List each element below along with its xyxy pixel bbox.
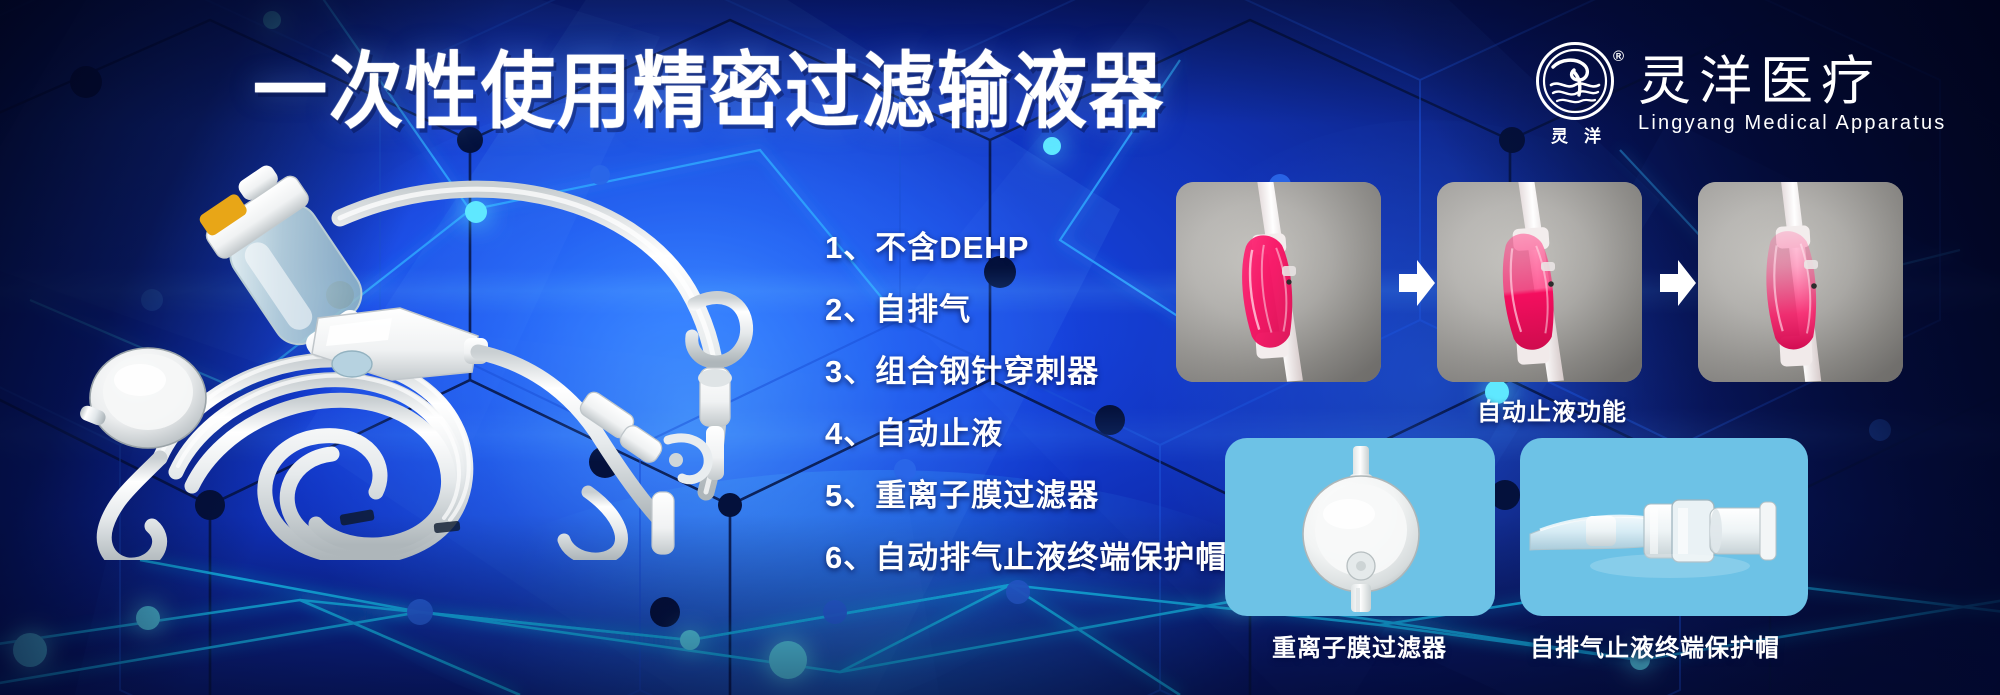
product-photo-infusion-set (40, 140, 780, 560)
wave-emblem-icon (1536, 42, 1614, 120)
brand-name-cn: 灵洋医疗 (1638, 54, 1946, 110)
product-banner: 一次性使用精密过滤输液器 ® 灵洋 灵洋医疗 Lingyang Medical … (0, 0, 2000, 695)
registered-trademark-icon: ® (1613, 48, 1624, 65)
page-title: 一次性使用精密过滤输液器 (253, 47, 1165, 137)
photo-heavy-ion-membrane-filter (1225, 438, 1495, 616)
wave-figure-icon (1541, 47, 1609, 115)
feature-list: 1、不含DEHP 2、自排气 3、组合钢针穿刺器 4、自动止液 5、重离子膜过滤… (825, 232, 1227, 574)
brand-name-en: Lingyang Medical Apparatus (1638, 112, 1946, 134)
air-vent-filter-part (78, 348, 206, 448)
feature-item-2: 2、自排气 (825, 294, 1227, 326)
sequence-caption: 自动止液功能 (1477, 392, 1627, 427)
brand-name-block: 灵洋医疗 Lingyang Medical Apparatus (1638, 54, 1946, 134)
caption-venting-cap: 自排气止液终端保护帽 (1530, 628, 1780, 663)
auto-stop-frame-1 (1176, 182, 1381, 382)
sequence-arrow-2 (1658, 256, 1698, 310)
auto-stop-frame-2 (1437, 182, 1642, 382)
feature-item-6: 6、自动排气止液终端保护帽 (825, 542, 1227, 574)
feature-item-5: 5、重离子膜过滤器 (825, 480, 1227, 512)
infusion-set-illustration (40, 140, 780, 560)
logo-mark-subtext: 灵洋 (1528, 122, 1624, 147)
caption-heavy-ion-filter: 重离子膜过滤器 (1272, 628, 1447, 663)
hook-clamp-part (668, 438, 708, 480)
feature-item-4: 4、自动止液 (825, 418, 1227, 450)
auto-stop-frame-3 (1698, 182, 1903, 382)
photo-self-venting-stop-cap (1520, 438, 1808, 616)
feature-item-3: 3、组合钢针穿刺器 (825, 356, 1227, 388)
sequence-arrow-1 (1397, 256, 1437, 310)
brand-logo: ® 灵洋 灵洋医疗 Lingyang Medical Apparatus (1528, 42, 1946, 146)
feature-item-1: 1、不含DEHP (825, 232, 1227, 264)
logo-emblem: ® 灵洋 (1528, 42, 1624, 146)
roller-clamp-part (312, 308, 488, 380)
